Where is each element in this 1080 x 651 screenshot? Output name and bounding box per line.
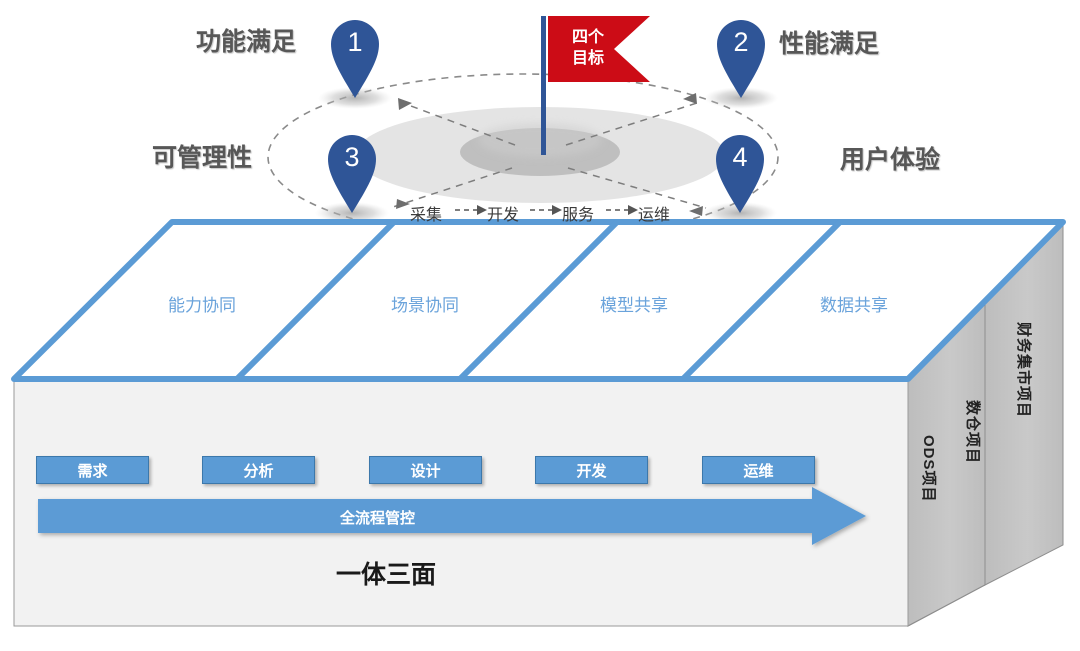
goal-label-1: 功能满足	[196, 22, 296, 58]
stage-button-operations[interactable]: 运维	[702, 456, 815, 484]
goal-pin-number-3: 3	[329, 142, 375, 173]
top-face-cell-2[interactable]: 场景协同	[391, 291, 459, 316]
goal-flag-line1: 四个	[560, 28, 616, 47]
goal-label-2: 性能满足	[779, 24, 879, 60]
top-face-cell-3[interactable]: 模型共享	[600, 291, 668, 316]
goal-label-4: 用户体验	[840, 140, 940, 176]
goal-pin-number-1: 1	[332, 27, 378, 58]
goal-pin-number-2: 2	[718, 27, 764, 58]
side-panel-label-finance: 财务集市项目	[1014, 322, 1035, 418]
inner-flow-step-2: 开发	[487, 201, 519, 225]
side-panel-label-ods: ODS项目	[919, 435, 940, 503]
goal-flag-line2: 目标	[560, 49, 616, 68]
process-arrow-label: 全流程管控	[340, 507, 415, 528]
orbit-platform	[355, 107, 725, 203]
diagram-vector-layer	[0, 0, 1080, 651]
stage-button-requirement[interactable]: 需求	[36, 456, 149, 484]
top-face-cell-1[interactable]: 能力协同	[168, 291, 236, 316]
goal-pin-number-4: 4	[717, 142, 763, 173]
stage-button-analysis[interactable]: 分析	[202, 456, 315, 484]
inner-flow-step-3: 服务	[562, 201, 594, 225]
stage-button-design[interactable]: 设计	[369, 456, 482, 484]
inner-flow-step-4: 运维	[638, 201, 670, 225]
inner-flow-step-1: 采集	[410, 201, 442, 225]
diagram-title: 一体三面	[336, 555, 436, 591]
diagram-canvas: 功能满足 性能满足 可管理性 用户体验 1 2 3 4 四个 目标 采集 开发 …	[0, 0, 1080, 651]
goal-label-3: 可管理性	[152, 138, 252, 174]
top-face-cell-4[interactable]: 数据共享	[820, 291, 888, 316]
stage-button-development[interactable]: 开发	[535, 456, 648, 484]
side-panel-label-dw: 数仓项目	[963, 400, 984, 464]
